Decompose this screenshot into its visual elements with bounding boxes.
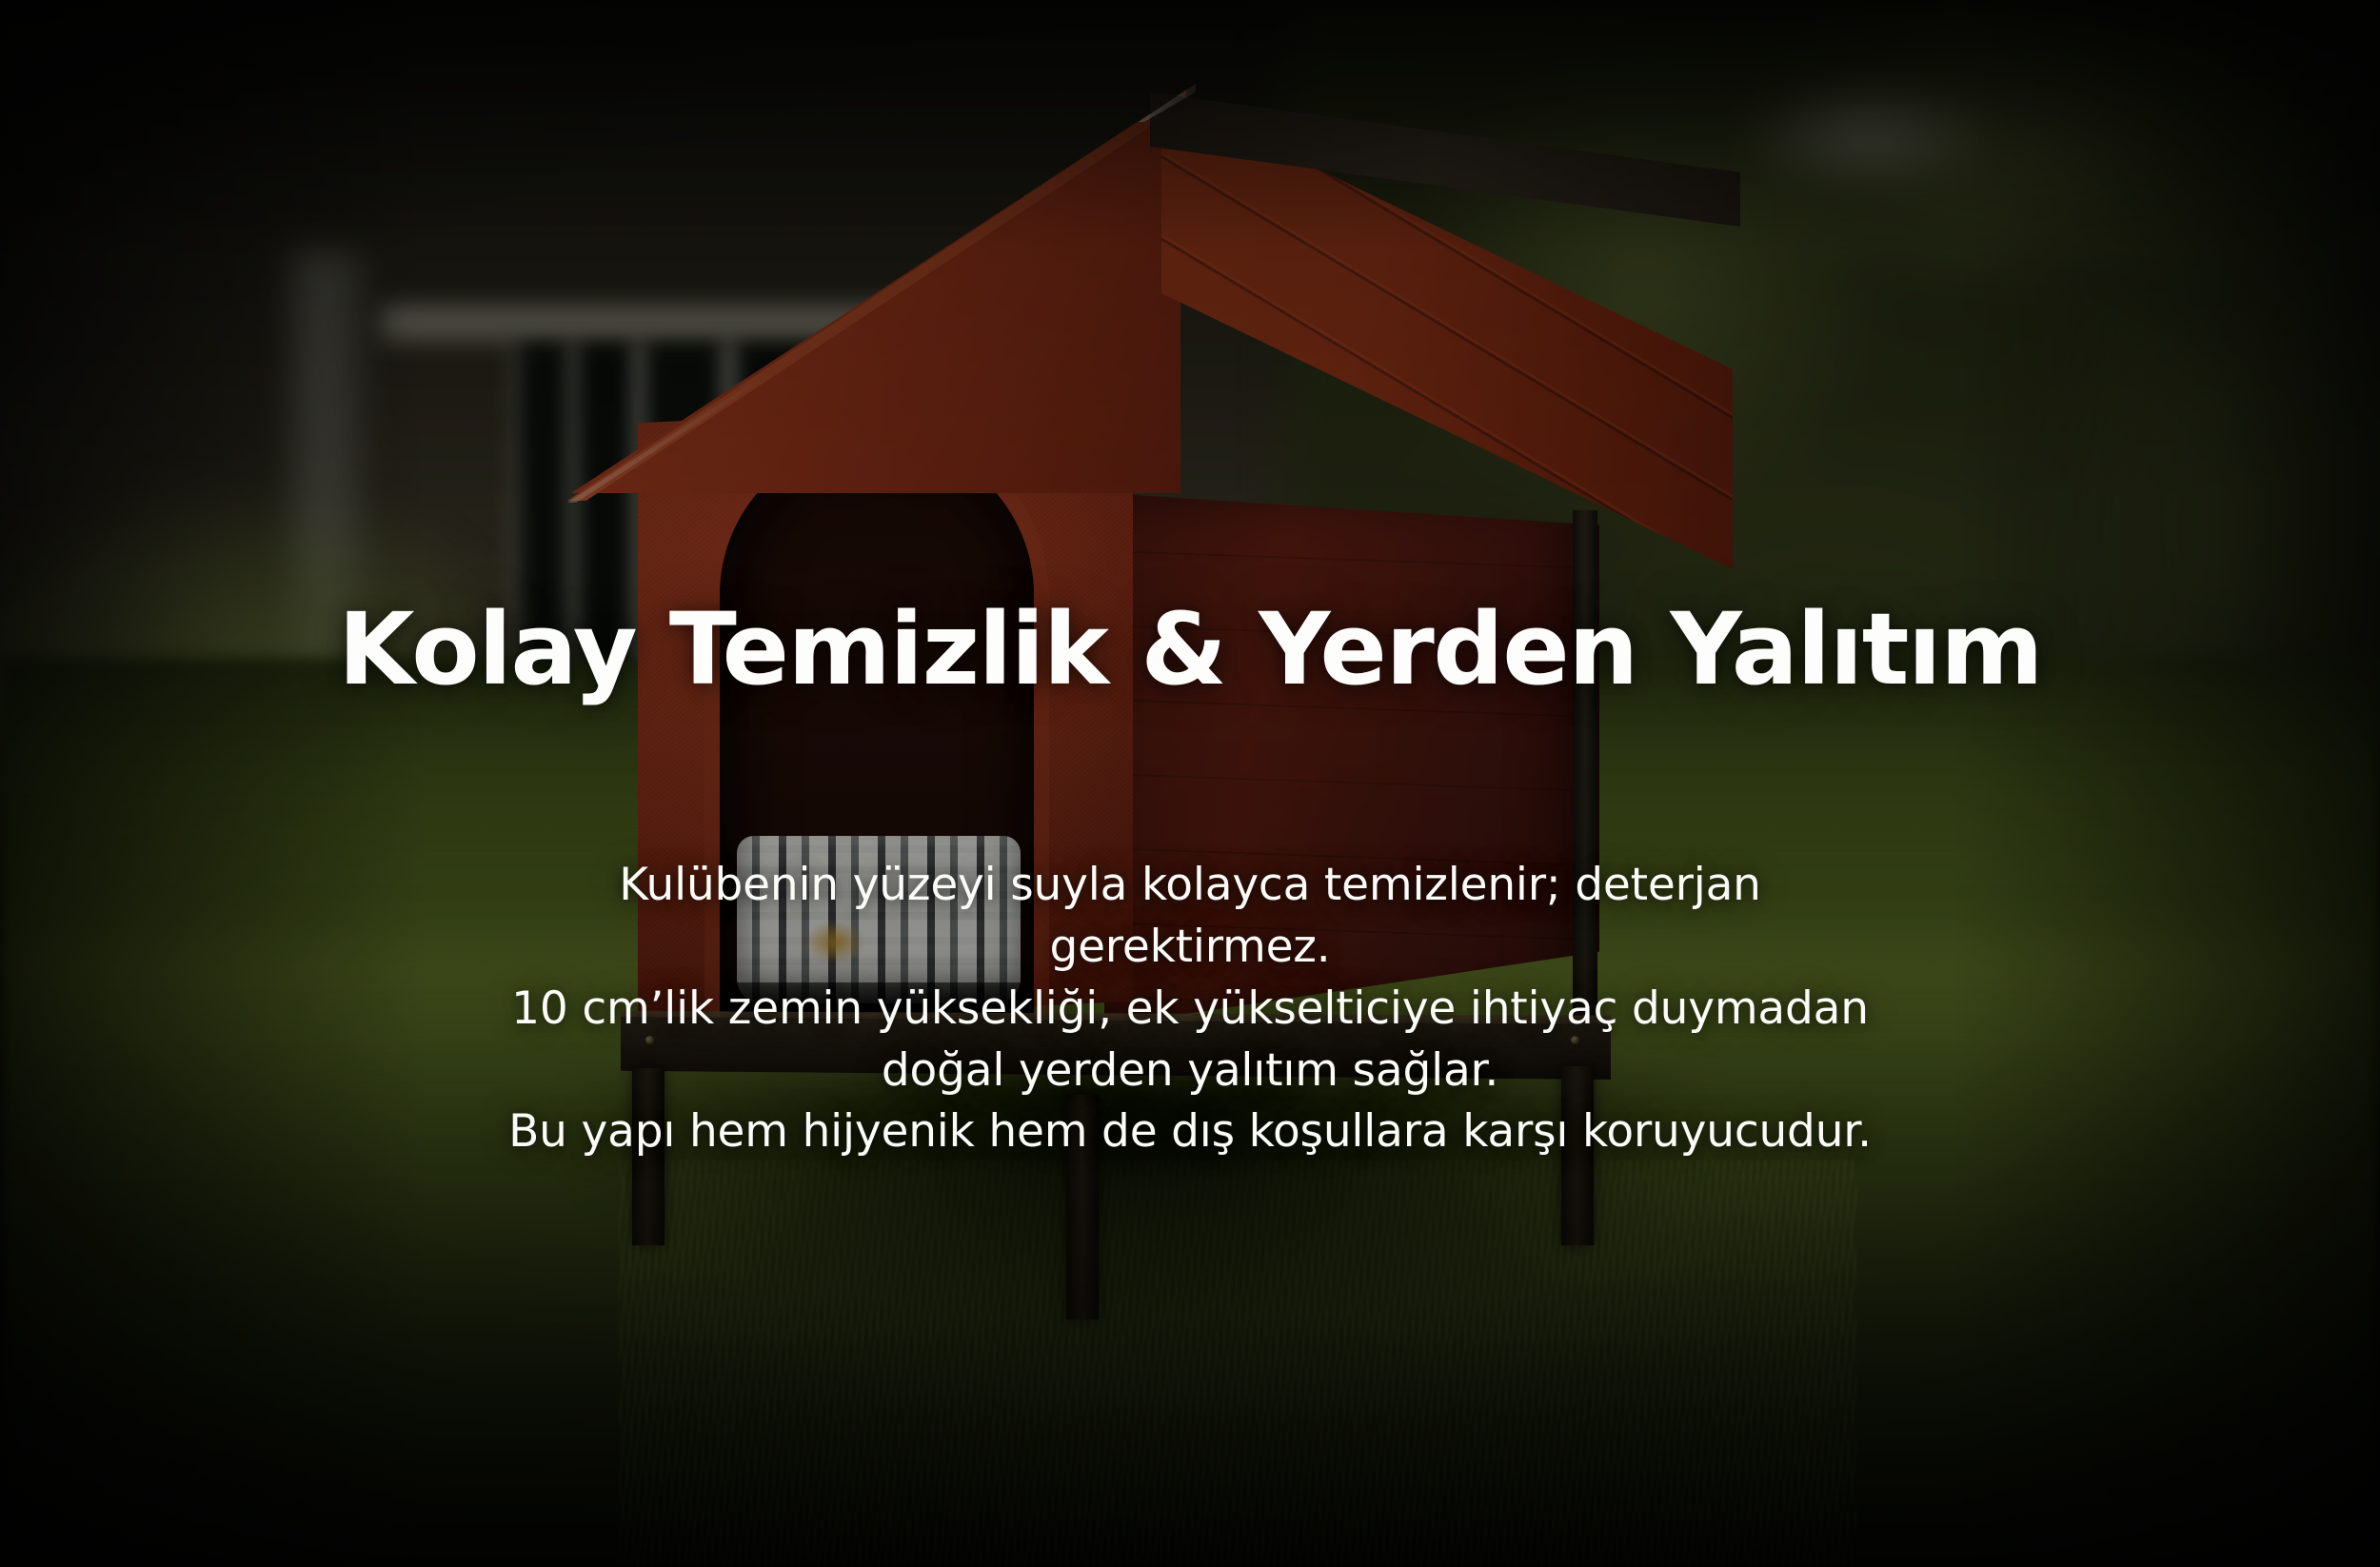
body-line-4: doğal yerden yalıtım sağlar.	[390, 1041, 1990, 1102]
body-line-1: Kulübenin yüzeyi suyla kolayca temizleni…	[390, 855, 1990, 917]
body-line-3: 10 cm’lik zemin yüksekliği, ek yükseltic…	[390, 979, 1990, 1041]
body-paragraph: Kulübenin yüzeyi suyla kolayca temizleni…	[390, 855, 1990, 1163]
dog-house	[533, 84, 1904, 1417]
background-photo	[0, 0, 2380, 1567]
page-title: Kolay Temizlik & Yerden Yalıtım	[0, 598, 2380, 701]
body-line-2: gerektirmez.	[390, 917, 1990, 979]
body-line-5: Bu yapı hem hijyenik hem de dış koşullar…	[390, 1101, 1990, 1163]
slide-canvas: Kolay Temizlik & Yerden Yalıtım Kulübeni…	[0, 0, 2380, 1567]
roof-gable-face	[571, 93, 1180, 493]
